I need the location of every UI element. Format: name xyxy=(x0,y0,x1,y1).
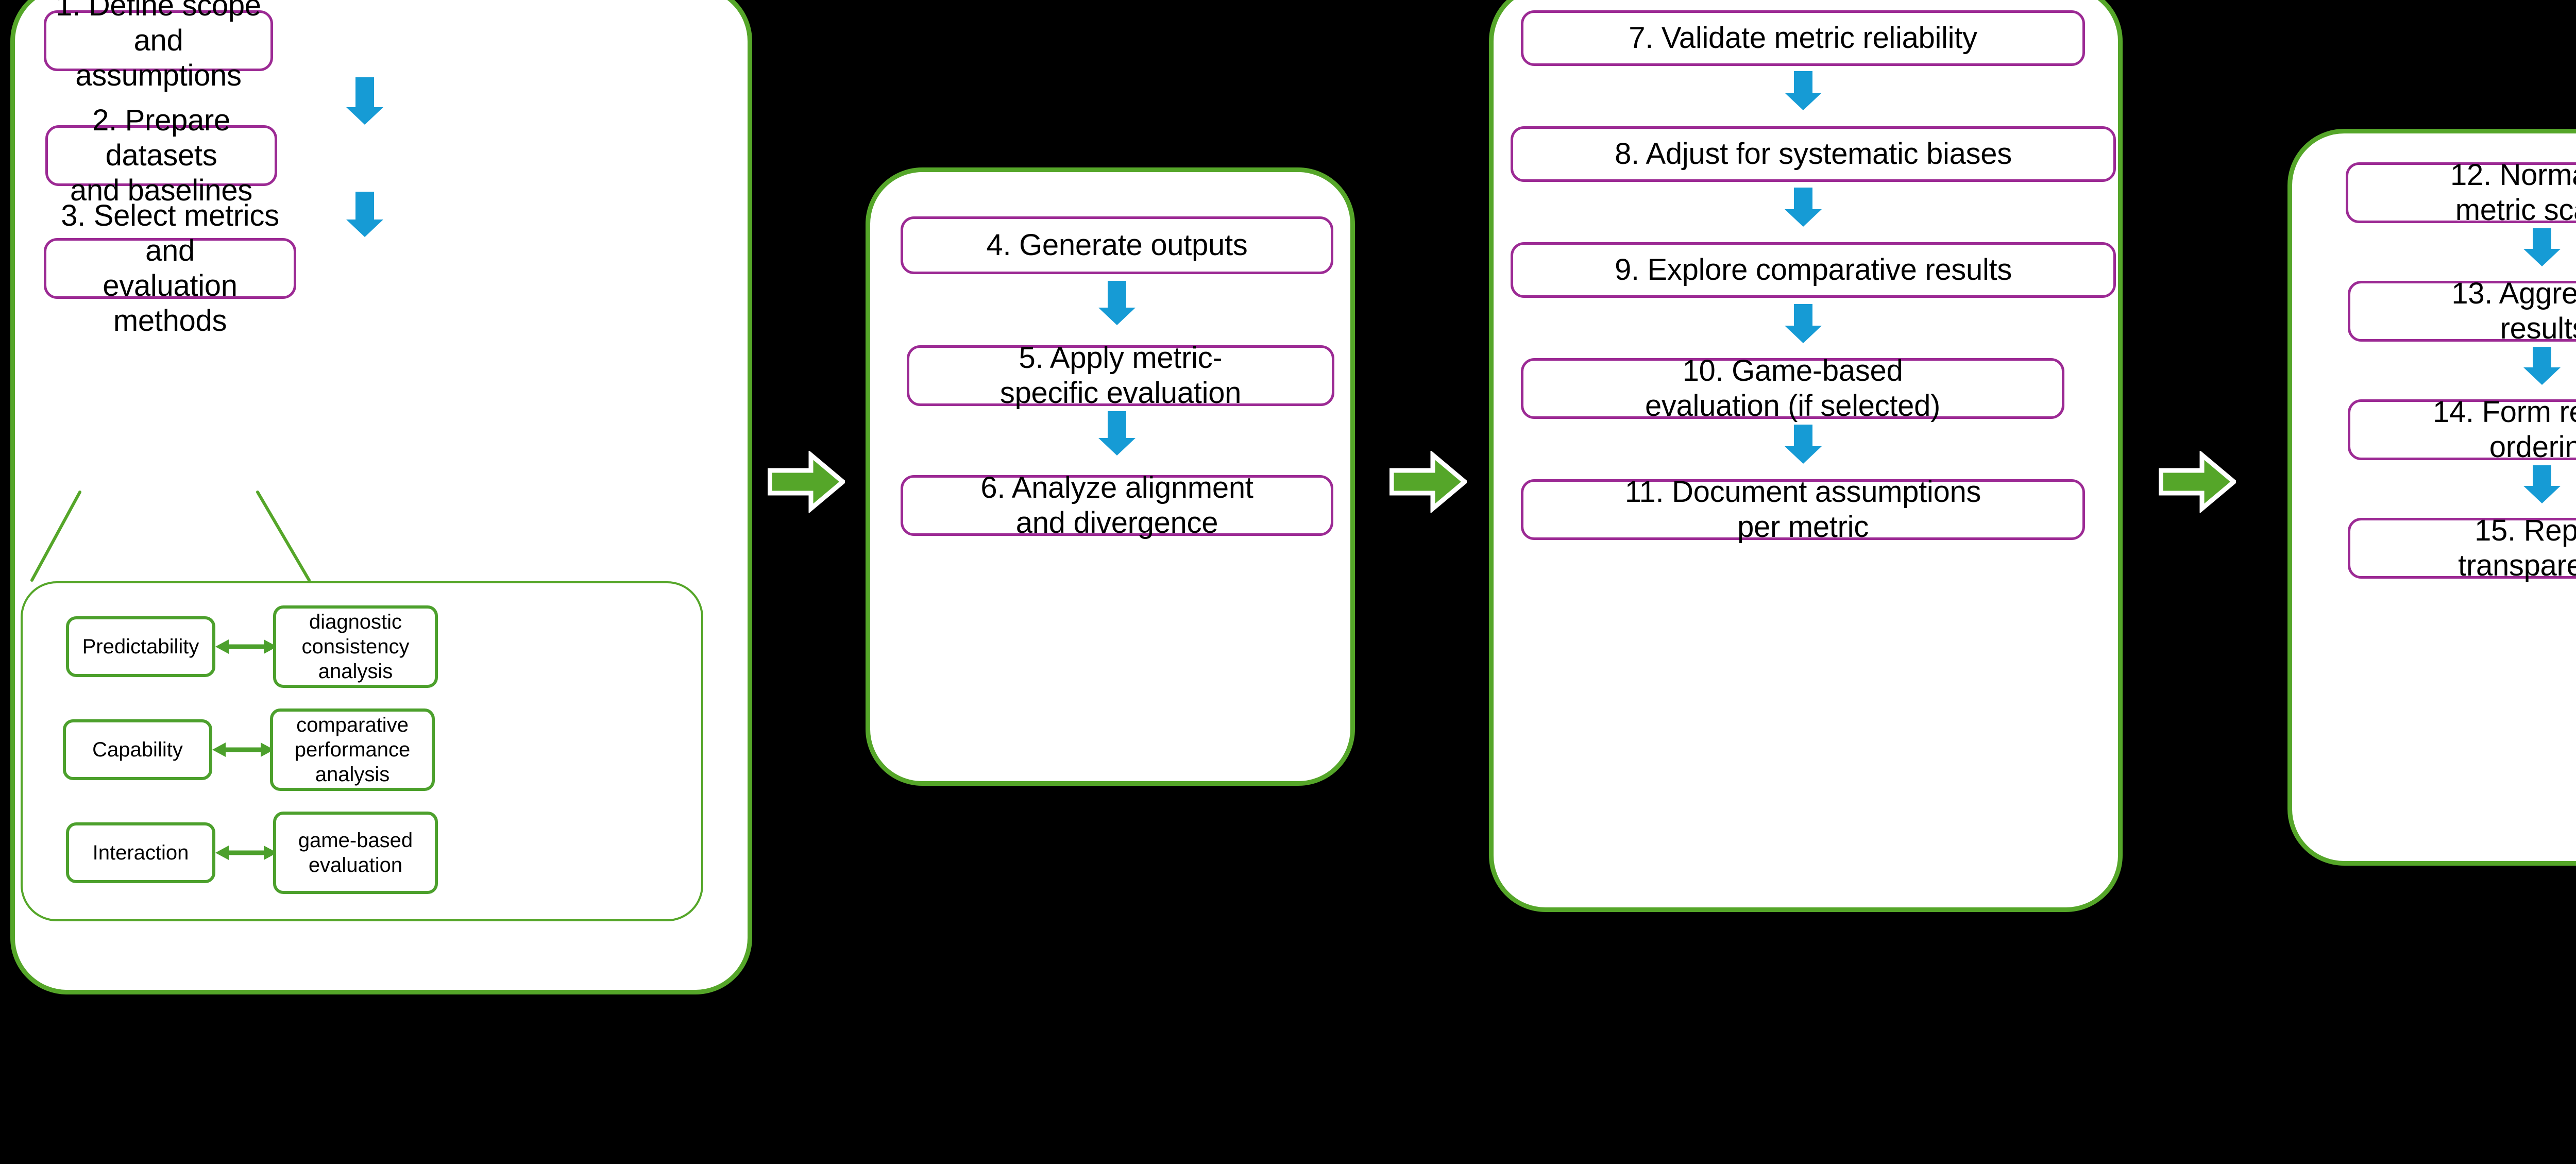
down-arrow-icon-14-15 xyxy=(2523,465,2561,503)
method-box-comparative-performance[interactable]: comparative performance analysis xyxy=(270,708,435,791)
right-block-arrow-icon-1 xyxy=(768,451,845,513)
double-headed-arrow-icon-1 xyxy=(215,634,277,659)
metric-box-predictability[interactable]: Predictability xyxy=(66,616,215,677)
step-box-8[interactable]: 8. Adjust for systematic biases xyxy=(1511,126,2116,182)
down-arrow-icon-1-2 xyxy=(346,77,383,125)
step-box-5[interactable]: 5. Apply metric- specific evaluation xyxy=(907,345,1334,406)
down-arrow-icon-8-9 xyxy=(1785,188,1822,227)
down-arrow-icon-4-5 xyxy=(1098,281,1136,325)
double-headed-arrow-icon-3 xyxy=(215,840,277,865)
down-arrow-icon-2-3 xyxy=(346,192,383,237)
step-box-6[interactable]: 6. Analyze alignment and divergence xyxy=(901,475,1333,536)
step-box-10[interactable]: 10. Game-based evaluation (if selected) xyxy=(1521,358,2064,419)
double-headed-arrow-icon-2 xyxy=(212,737,274,762)
right-block-arrow-icon-3 xyxy=(2159,451,2236,513)
step-box-3[interactable]: 3. Select metrics and evaluation methods xyxy=(44,238,296,299)
step-box-13[interactable]: 13. Aggregate results xyxy=(2348,281,2576,342)
method-box-game-based-evaluation[interactable]: game-based evaluation xyxy=(273,812,438,894)
down-arrow-icon-7-8 xyxy=(1785,71,1822,110)
step-box-11[interactable]: 11. Document assumptions per metric xyxy=(1521,479,2085,540)
step-box-12[interactable]: 12. Normalize metric scales xyxy=(2346,162,2576,223)
method-box-diagnostic-consistency[interactable]: diagnostic consistency analysis xyxy=(273,605,438,688)
step-box-15[interactable]: 15. Report transparency xyxy=(2348,518,2576,579)
diagram-canvas: 1. Define scope and assumptions 2. Prepa… xyxy=(0,0,2576,1164)
step-box-2[interactable]: 2. Prepare datasets and baselines xyxy=(45,125,277,186)
down-arrow-icon-12-13 xyxy=(2523,228,2561,266)
down-arrow-icon-5-6 xyxy=(1098,411,1136,456)
step-box-1[interactable]: 1. Define scope and assumptions xyxy=(44,10,273,71)
metric-box-interaction[interactable]: Interaction xyxy=(66,822,215,883)
step-box-9[interactable]: 9. Explore comparative results xyxy=(1511,242,2116,298)
down-arrow-icon-13-14 xyxy=(2523,347,2561,385)
step-box-14[interactable]: 14. Form relative ordering xyxy=(2348,399,2576,460)
right-block-arrow-icon-2 xyxy=(1389,451,1467,513)
metric-box-capability[interactable]: Capability xyxy=(63,719,212,780)
down-arrow-icon-9-10 xyxy=(1785,304,1822,343)
step-box-7[interactable]: 7. Validate metric reliability xyxy=(1521,10,2085,66)
step-box-4[interactable]: 4. Generate outputs xyxy=(901,216,1333,274)
down-arrow-icon-10-11 xyxy=(1785,425,1822,464)
